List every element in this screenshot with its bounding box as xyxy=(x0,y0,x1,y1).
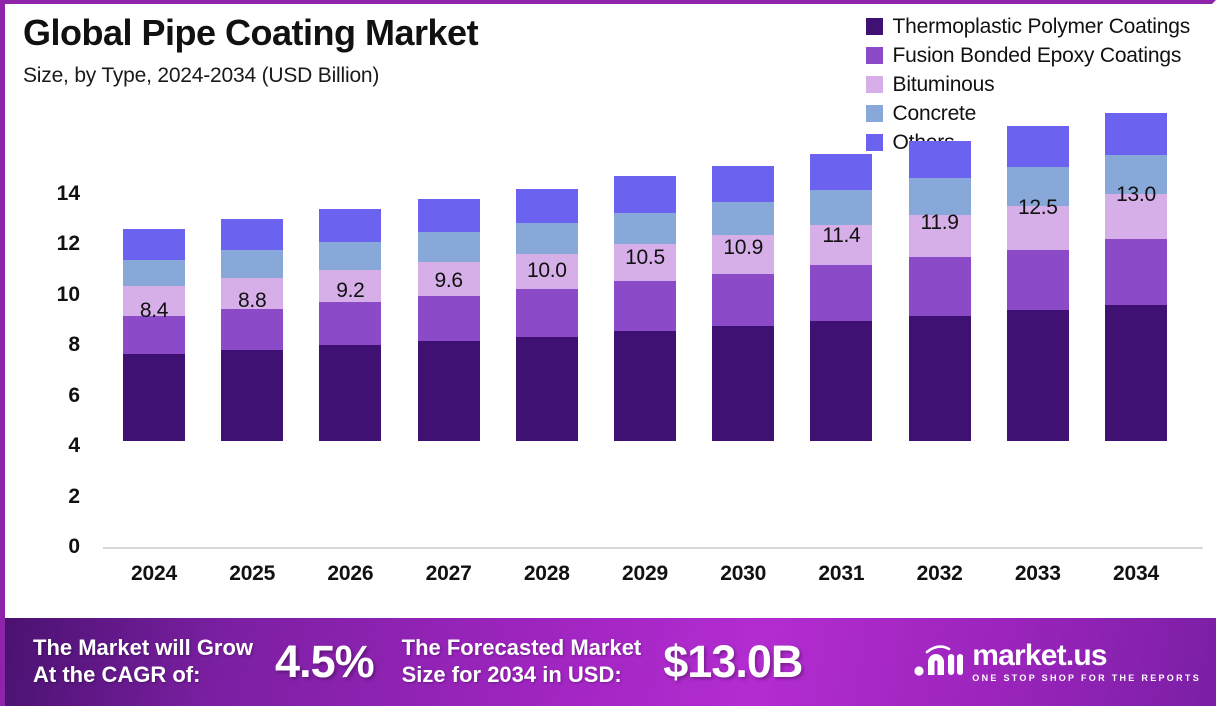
bar-stack[interactable] xyxy=(810,154,872,441)
bar-segment[interactable] xyxy=(909,257,971,316)
x-axis-tick-label: 2033 xyxy=(988,562,1088,586)
bar-value-label: 11.9 xyxy=(890,211,990,235)
x-axis-tick-label: 2032 xyxy=(890,562,990,586)
bar-segment[interactable] xyxy=(1105,239,1167,305)
brand-name: market.us xyxy=(972,639,1107,672)
bar-stack[interactable] xyxy=(909,141,971,441)
cagr-label-line2: At the CAGR of: xyxy=(33,662,253,689)
bar-segment[interactable] xyxy=(810,190,872,225)
bar-segment[interactable] xyxy=(418,199,480,232)
bar-segment[interactable] xyxy=(810,321,872,441)
y-axis-tick-label: 6 xyxy=(20,384,80,408)
bar-stack[interactable] xyxy=(418,199,480,441)
bar-segment[interactable] xyxy=(221,309,283,350)
bar-segment[interactable] xyxy=(712,274,774,326)
bar-segment[interactable] xyxy=(123,260,185,286)
bar-segment[interactable] xyxy=(221,219,283,250)
bar-segment[interactable] xyxy=(909,141,971,178)
bar-segment[interactable] xyxy=(319,345,381,441)
forecast-label-block: The Forecasted Market Size for 2034 in U… xyxy=(402,635,642,689)
bar-segment[interactable] xyxy=(319,242,381,270)
bar-segment[interactable] xyxy=(516,189,578,223)
y-axis-tick-label: 12 xyxy=(20,232,80,256)
y-axis-tick-label: 14 xyxy=(20,182,80,206)
footer-banner: The Market will Grow At the CAGR of: 4.5… xyxy=(5,618,1216,706)
bar-stack[interactable] xyxy=(221,219,283,441)
x-axis-tick-label: 2025 xyxy=(202,562,302,586)
bar-segment[interactable] xyxy=(221,350,283,441)
bar-value-label: 11.4 xyxy=(791,224,891,248)
bar-segment[interactable] xyxy=(614,176,676,213)
brand-logo[interactable]: market.us ONE STOP SHOP FOR THE REPORTS xyxy=(913,640,1201,685)
bar-segment[interactable] xyxy=(418,296,480,342)
bar-stack[interactable] xyxy=(319,209,381,441)
bar-segment[interactable] xyxy=(418,341,480,441)
bar-segment[interactable] xyxy=(614,331,676,441)
bar-stack[interactable] xyxy=(123,229,185,441)
x-axis-tick-label: 2034 xyxy=(1086,562,1186,586)
chart-plot-area: 024681012148.420248.820259.220269.620271… xyxy=(5,4,1216,604)
bar-segment[interactable] xyxy=(418,232,480,262)
bar-segment[interactable] xyxy=(712,166,774,202)
bar-value-label: 12.5 xyxy=(988,196,1088,220)
bar-value-label: 9.2 xyxy=(300,279,400,303)
bar-segment[interactable] xyxy=(1105,305,1167,441)
y-axis-tick-label: 8 xyxy=(20,333,80,357)
bar-value-label: 8.4 xyxy=(104,299,204,323)
cagr-label-line1: The Market will Grow xyxy=(33,635,253,662)
x-axis-tick-label: 2029 xyxy=(595,562,695,586)
x-axis-tick-label: 2026 xyxy=(300,562,400,586)
bar-segment[interactable] xyxy=(712,202,774,235)
x-axis-tick-label: 2031 xyxy=(791,562,891,586)
bar-segment[interactable] xyxy=(1105,113,1167,155)
bar-value-label: 13.0 xyxy=(1086,183,1186,207)
x-axis-tick-label: 2030 xyxy=(693,562,793,586)
y-axis-tick-label: 10 xyxy=(20,283,80,307)
bar-segment[interactable] xyxy=(810,154,872,190)
bar-stack[interactable] xyxy=(1007,126,1069,441)
bar-segment[interactable] xyxy=(1007,310,1069,441)
forecast-label-line2: Size for 2034 in USD: xyxy=(402,662,642,689)
forecast-label-line1: The Forecasted Market xyxy=(402,635,642,662)
market-us-logo-icon xyxy=(913,640,963,685)
bar-segment[interactable] xyxy=(909,316,971,441)
bar-segment[interactable] xyxy=(909,178,971,215)
bar-segment[interactable] xyxy=(614,213,676,244)
forecast-value: $13.0B xyxy=(663,636,802,688)
bar-value-label: 9.6 xyxy=(399,269,499,293)
bar-stack[interactable] xyxy=(1105,113,1167,441)
bar-segment[interactable] xyxy=(614,281,676,331)
bar-value-label: 10.5 xyxy=(595,246,695,270)
bar-segment[interactable] xyxy=(123,229,185,260)
bar-segment[interactable] xyxy=(221,250,283,277)
bar-stack[interactable] xyxy=(712,166,774,441)
cagr-value: 4.5% xyxy=(275,636,374,688)
x-axis-tick-label: 2024 xyxy=(104,562,204,586)
bar-segment[interactable] xyxy=(712,326,774,441)
bar-segment[interactable] xyxy=(319,209,381,242)
infographic-root: Global Pipe Coating Market Size, by Type… xyxy=(0,0,1216,706)
y-axis-tick-label: 4 xyxy=(20,434,80,458)
bar-segment[interactable] xyxy=(123,354,185,441)
x-axis-tick-label: 2028 xyxy=(497,562,597,586)
bar-segment[interactable] xyxy=(319,302,381,345)
bar-stack[interactable] xyxy=(614,176,676,441)
bar-stack[interactable] xyxy=(516,189,578,441)
bar-segment[interactable] xyxy=(810,265,872,321)
bar-segment[interactable] xyxy=(516,223,578,254)
x-axis-line xyxy=(103,547,1203,549)
x-axis-tick-label: 2027 xyxy=(399,562,499,586)
bar-value-label: 10.0 xyxy=(497,259,597,283)
bar-value-label: 8.8 xyxy=(202,289,302,313)
y-axis-tick-label: 2 xyxy=(20,485,80,509)
bar-segment[interactable] xyxy=(1007,126,1069,167)
cagr-label-block: The Market will Grow At the CAGR of: xyxy=(33,635,253,689)
bar-segment[interactable] xyxy=(1007,250,1069,311)
y-axis-tick-label: 0 xyxy=(20,535,80,559)
brand-tagline: ONE STOP SHOP FOR THE REPORTS xyxy=(972,674,1201,683)
bar-value-label: 10.9 xyxy=(693,236,793,260)
bar-segment[interactable] xyxy=(516,289,578,337)
bar-segment[interactable] xyxy=(516,337,578,441)
brand-text-block: market.us ONE STOP SHOP FOR THE REPORTS xyxy=(972,641,1201,683)
